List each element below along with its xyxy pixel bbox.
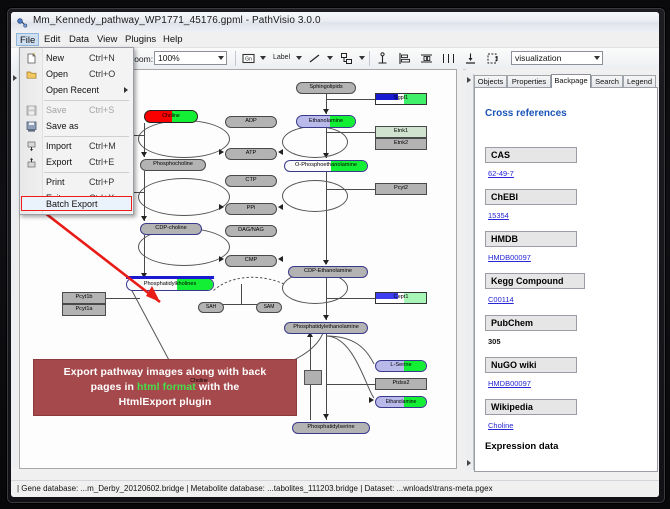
- xref-label-chebi: ChEBI: [485, 189, 577, 205]
- chevron-down-icon: [594, 56, 600, 60]
- node-cmp[interactable]: CMP: [225, 255, 277, 267]
- align-center-tool-button[interactable]: [419, 51, 434, 66]
- node-o-phosphoethanolamine[interactable]: O-Phosphoethanolamine: [284, 160, 368, 172]
- zoom-value: 100%: [158, 53, 180, 63]
- menu-edit[interactable]: Edit: [40, 33, 64, 46]
- file-menu-print-accel: Ctrl+P: [89, 177, 114, 187]
- arrow-to-phosphocholine: [141, 152, 147, 157]
- node-ethanolamine-2[interactable]: Ethanolamine: [375, 396, 427, 408]
- xref-label-nugo: NuGO wiki: [485, 357, 577, 373]
- cross-references-title: Cross references: [485, 108, 567, 119]
- node-phosphocholine[interactable]: Phosphocholine: [140, 159, 206, 171]
- node-phosphatidylethanolamine[interactable]: Phosphatidylethanolamine: [284, 322, 368, 334]
- node-pcyt2[interactable]: Pcyt2: [375, 183, 427, 195]
- expand-right-icon[interactable]: [467, 77, 471, 83]
- xref-label-pubchem: PubChem: [485, 315, 577, 331]
- edge-sgpl1-anchor: [326, 99, 376, 100]
- node-ppi[interactable]: PPi: [225, 203, 277, 215]
- gene-product-tool-button[interactable]: Gn: [241, 51, 256, 66]
- file-menu-print[interactable]: Print Ctrl+P: [21, 175, 132, 190]
- reaction-loop-1: [138, 120, 230, 158]
- line-tool-chevron-down-icon[interactable]: [327, 56, 333, 60]
- menu-help[interactable]: Help: [159, 33, 187, 46]
- arrow-from-atp: [278, 149, 283, 155]
- gene-tool-chevron-down-icon[interactable]: [260, 56, 266, 60]
- menu-data[interactable]: Data: [65, 33, 93, 46]
- file-menu-save-label: Save: [46, 105, 67, 115]
- file-menu-save-as-label: Save as: [46, 121, 79, 131]
- label-tool-button[interactable]: Label: [273, 54, 290, 61]
- xref-value-kegg[interactable]: C00114: [488, 295, 514, 304]
- annotation-callout: Export pathway images along with back pa…: [33, 359, 297, 416]
- callout-line-2-a: pages in: [91, 381, 137, 393]
- reaction-loop-4: [282, 126, 348, 158]
- node-sphingolipids[interactable]: Sphingolipids: [296, 82, 356, 94]
- export-icon: [26, 157, 37, 168]
- file-menu-open-recent[interactable]: Open Recent: [21, 83, 132, 98]
- arrow-to-cdpetn: [323, 260, 329, 265]
- node-cdp-ethanolamine[interactable]: CDP-Ethanolamine: [288, 266, 368, 278]
- sidebar-tabs: Objects Properties Backpage Search Legen…: [474, 74, 656, 88]
- xref-value-hmdb[interactable]: HMDB00097: [488, 253, 531, 262]
- node-ptdss2[interactable]: Ptdss2: [375, 378, 427, 390]
- xref-label-kegg: Kegg Compound: [485, 273, 585, 289]
- label-tool-chevron-down-icon[interactable]: [296, 56, 302, 60]
- node-cept1[interactable]: Cept1: [375, 292, 427, 304]
- xref-value-chebi[interactable]: 15354: [488, 211, 509, 220]
- menu-bar: File Edit Data View Plugins Help: [11, 32, 659, 48]
- stack-tool-button[interactable]: [463, 51, 478, 66]
- file-menu-export-label: Export: [46, 157, 72, 167]
- zoom-combo[interactable]: 100%: [154, 51, 227, 65]
- anchor-box[interactable]: [304, 370, 322, 385]
- node-ctp[interactable]: CTP: [225, 175, 277, 187]
- side-panel: Objects Properties Backpage Search Legen…: [466, 69, 659, 479]
- node-choline[interactable]: Choline: [144, 110, 198, 123]
- xref-label-cas: CAS: [485, 147, 577, 163]
- title-bar: Mm_Kennedy_pathway_WP1771_45176.gpml - P…: [11, 12, 659, 33]
- status-text: | Gene database: ...m_Derby_20120602.bri…: [17, 484, 493, 493]
- file-menu-open[interactable]: Open Ctrl+O: [21, 67, 132, 82]
- arrow-to-atp: [219, 149, 224, 155]
- expand-right-icon-bottom[interactable]: [467, 460, 471, 466]
- node-etnk1[interactable]: Etnk1: [375, 126, 427, 138]
- align-left-tool-button[interactable]: [397, 51, 412, 66]
- toolbar-separator: [235, 51, 236, 66]
- node-sam[interactable]: SAM: [256, 302, 282, 313]
- anchor-tool-button[interactable]: [375, 51, 390, 66]
- window-title: Mm_Kennedy_pathway_WP1771_45176.gpml - P…: [33, 15, 321, 26]
- toolbar-separator-2: [369, 51, 370, 66]
- file-menu-save-accel: Ctrl+S: [89, 105, 114, 115]
- desktop-background: Mm_Kennedy_pathway_WP1771_45176.gpml - P…: [0, 0, 670, 509]
- svg-text:Gn: Gn: [245, 57, 252, 63]
- file-menu-save: Save Ctrl+S: [21, 103, 132, 118]
- callout-highlight: html format: [137, 381, 196, 393]
- file-menu-separator-3: [44, 172, 129, 173]
- xref-label-hmdb: HMDB: [485, 231, 577, 247]
- xref-value-wikipedia[interactable]: Choline: [488, 421, 513, 430]
- pathvisio-app-icon: [16, 16, 28, 28]
- expression-data-title: Expression data: [485, 441, 558, 452]
- status-bar: | Gene database: ...m_Derby_20120602.bri…: [11, 480, 659, 497]
- callout-text: Export pathway images along with back pa…: [58, 365, 273, 410]
- node-ethanolamine[interactable]: Ethanolamine: [296, 115, 356, 128]
- xref-label-wikipedia: Wikipedia: [485, 399, 577, 415]
- file-menu-export-accel: Ctrl+E: [89, 157, 114, 167]
- arrow-to-ppi: [219, 204, 224, 210]
- distribute-tool-button[interactable]: [441, 51, 456, 66]
- new-file-icon: [26, 53, 37, 64]
- save-icon: [26, 105, 37, 116]
- node-sgpl1[interactable]: Sgpl1: [375, 93, 427, 105]
- arrow-to-ethanolamine2: [369, 397, 374, 403]
- node-sah[interactable]: SAH: [198, 302, 224, 313]
- file-menu-batch-export-label: Batch Export: [46, 199, 98, 209]
- file-menu-print-label: Print: [46, 177, 65, 187]
- group-tool-button[interactable]: [485, 51, 500, 66]
- visualization-combo[interactable]: visualization: [511, 51, 603, 65]
- arrow-to-cmp: [219, 256, 224, 262]
- node-l-serine[interactable]: L-Serine: [375, 360, 427, 372]
- edge-sam-anchor: [241, 284, 242, 304]
- node-dagnag[interactable]: DAG/NAG: [225, 225, 277, 237]
- chevron-down-icon: [218, 56, 224, 60]
- window-frame: Mm_Kennedy_pathway_WP1771_45176.gpml - P…: [7, 8, 665, 503]
- menu-file[interactable]: File: [16, 33, 39, 46]
- file-menu-open-recent-label: Open Recent: [46, 85, 99, 95]
- save-as-icon: [26, 121, 37, 132]
- file-menu-import-accel: Ctrl+M: [89, 141, 116, 151]
- file-menu-separator-1: [44, 100, 129, 101]
- file-menu-new[interactable]: New Ctrl+N: [21, 51, 132, 66]
- arrow-to-ethanolamine: [323, 109, 329, 114]
- arrow-to-ptdserine: [323, 414, 329, 419]
- pathvisio-window: Mm_Kennedy_pathway_WP1771_45176.gpml - P…: [11, 12, 659, 497]
- file-menu-dropdown: New Ctrl+N Open Ctrl+O Open Recent Save …: [19, 47, 134, 215]
- callout-line-1: Export pathway images along with back: [64, 366, 267, 378]
- file-menu-import-label: Import: [46, 141, 72, 151]
- file-menu-import[interactable]: Import Ctrl+M: [21, 139, 132, 154]
- folder-icon: [26, 69, 37, 80]
- menu-plugins[interactable]: Plugins: [121, 33, 160, 46]
- callout-line-3: HtmlExport plugin: [119, 396, 212, 408]
- file-menu-separator-2: [44, 136, 129, 137]
- file-menu-open-label: Open: [46, 69, 68, 79]
- arrow-from-cmp: [278, 256, 283, 262]
- import-icon: [26, 141, 37, 152]
- node-phosphatidylserine[interactable]: Phosphatidylserine: [292, 422, 370, 434]
- shape-tool-chevron-down-icon[interactable]: [359, 56, 365, 60]
- file-menu-new-accel: Ctrl+N: [89, 53, 115, 63]
- file-menu-new-label: New: [46, 53, 64, 63]
- file-menu-save-as[interactable]: Save as: [21, 119, 132, 134]
- node-adp[interactable]: ADP: [225, 116, 277, 128]
- xref-value-pubchem: 305: [488, 337, 501, 346]
- shape-tool-button[interactable]: [339, 51, 354, 66]
- arrow-from-ppi: [278, 204, 283, 210]
- menu-view[interactable]: View: [93, 33, 121, 46]
- backpage-content: Cross references CAS 62-49-7 ChEBI 15354…: [474, 87, 658, 472]
- line-tool-button[interactable]: [307, 51, 322, 66]
- file-menu-export[interactable]: Export Ctrl+E: [21, 155, 132, 170]
- expand-right-icon[interactable]: [13, 75, 17, 81]
- arrow-to-ptdetn: [323, 315, 329, 320]
- file-menu-batch-export[interactable]: Batch Export: [21, 197, 132, 212]
- xref-value-cas[interactable]: 62-49-7: [488, 169, 514, 178]
- reaction-loop-5: [282, 180, 348, 212]
- file-menu-open-accel: Ctrl+O: [89, 69, 115, 79]
- node-atp[interactable]: ATP: [225, 148, 277, 160]
- sidebar-collapse-rail[interactable]: [466, 74, 474, 470]
- annotation-arrow: [42, 210, 192, 314]
- visualization-value: visualization: [515, 53, 561, 63]
- submenu-chevron-right-icon: [124, 87, 128, 93]
- node-etnk2[interactable]: Etnk2: [375, 138, 427, 150]
- tab-backpage[interactable]: Backpage: [551, 74, 591, 88]
- xref-value-nugo[interactable]: HMDB00097: [488, 379, 531, 388]
